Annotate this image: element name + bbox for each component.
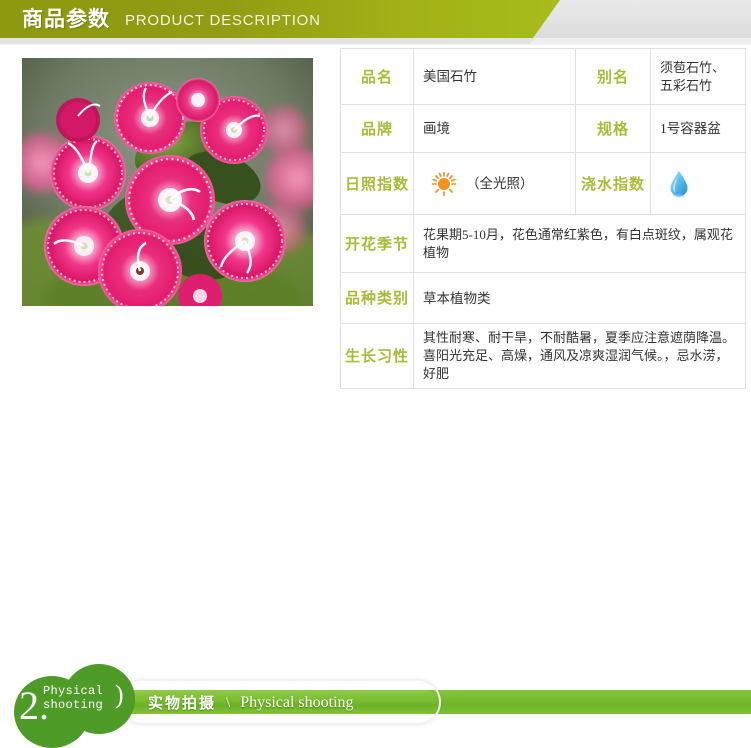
- spec-value-sunlight-text: （全光照）: [466, 174, 534, 193]
- spec-value-product-name: 美国石竹: [414, 49, 576, 105]
- spec-label-brand: 品牌: [341, 105, 414, 153]
- spec-value-specification: 1号容器盆: [651, 105, 746, 153]
- product-photo: [22, 58, 313, 306]
- water-drop-icon: [668, 170, 690, 198]
- spec-value-brand: 画境: [414, 105, 576, 153]
- spec-label-watering-index: 浇水指数: [576, 153, 651, 215]
- spec-label-watering-index-text: 浇水指数: [581, 175, 645, 193]
- footer-badge-slash: ): [115, 682, 124, 708]
- footer-badge-caption-line2: shooting: [43, 698, 103, 712]
- spec-value-variety-category: 草本植物类: [414, 273, 746, 324]
- footer-badge-caption: Physical shooting: [43, 684, 103, 712]
- flower-photo-illustration: [22, 58, 313, 306]
- page-header: 商品参数 PRODUCT DESCRIPTION: [0, 0, 751, 45]
- spec-value-sunlight-index: （全光照）: [414, 153, 576, 215]
- footer-bar-separator: \: [226, 693, 230, 713]
- footer-bar-text-cn: 实物拍摄: [148, 693, 216, 713]
- footer-bar-text-en: Physical shooting: [240, 693, 353, 713]
- footer-bar-text: 实物拍摄 \ Physical shooting: [148, 692, 448, 714]
- spec-label-product-name: 品名: [341, 49, 414, 105]
- table-row: 品牌 画境 规格 1号容器盆: [341, 105, 746, 153]
- spec-value-watering-index: [651, 153, 746, 215]
- table-row: 开花季节 花果期5-10月，花色通常红紫色，有白点斑纹，属观花植物: [341, 215, 746, 273]
- table-row: 品种类别 草本植物类: [341, 273, 746, 324]
- spec-label-sunlight-index-text: 日照指数: [345, 175, 409, 193]
- spec-value-bloom-season: 花果期5-10月，花色通常红紫色，有白点斑纹，属观花植物: [414, 215, 746, 273]
- spec-value-alias: 须苞石竹、五彩石竹: [651, 49, 746, 105]
- page-title-en: PRODUCT DESCRIPTION: [125, 10, 321, 32]
- spec-label-variety-category: 品种类别: [341, 273, 414, 324]
- table-row: 品名 美国石竹 别名 须苞石竹、五彩石竹: [341, 49, 746, 105]
- page-title-cn: 商品参数: [22, 4, 110, 34]
- spec-label-specification: 规格: [576, 105, 651, 153]
- section-footer: 2. Physical shooting ) 实物拍摄 \ Physical s…: [0, 330, 751, 418]
- table-row: 日照指数: [341, 153, 746, 215]
- sun-icon: [431, 171, 457, 197]
- footer-badge-caption-line1: Physical: [43, 684, 103, 698]
- spec-label-alias: 别名: [576, 49, 651, 105]
- spec-label-bloom-season: 开花季节: [341, 215, 414, 273]
- spec-label-sunlight-index: 日照指数: [341, 153, 414, 215]
- header-banner-shadow: [0, 38, 534, 44]
